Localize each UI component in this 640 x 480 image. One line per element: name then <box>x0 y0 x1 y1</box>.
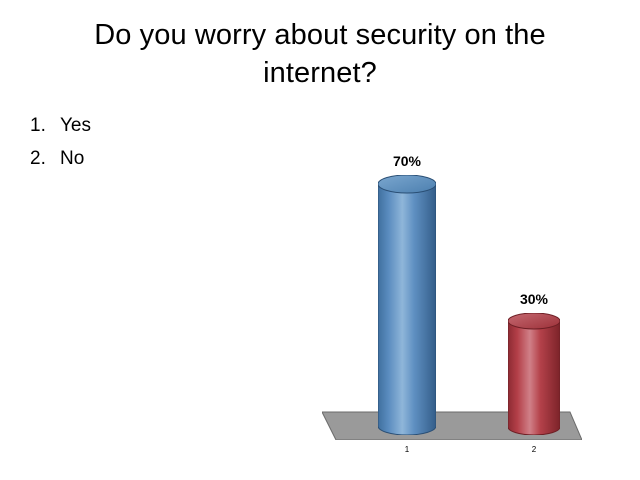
list-item-label: No <box>60 148 280 170</box>
list-item-number: 2. <box>30 148 60 170</box>
category-label-1: 1 <box>387 445 427 454</box>
answer-list: 1. Yes 2. No <box>30 115 280 181</box>
list-item: 2. No <box>30 148 280 170</box>
bar-value-label-1: 70% <box>378 153 436 169</box>
bar-series-2: 30% <box>508 313 560 435</box>
list-item-label: Yes <box>60 115 280 137</box>
list-item-number: 1. <box>30 115 60 137</box>
category-label-2: 2 <box>514 445 554 454</box>
bar-series-1: 70% <box>378 175 436 435</box>
slide: Do you worry about security on the inter… <box>0 0 640 480</box>
list-item: 1. Yes <box>30 115 280 137</box>
page-title: Do you worry about security on the inter… <box>40 16 600 92</box>
bar-value-label-2: 30% <box>508 291 560 307</box>
bar-chart: 70% <box>310 120 620 470</box>
